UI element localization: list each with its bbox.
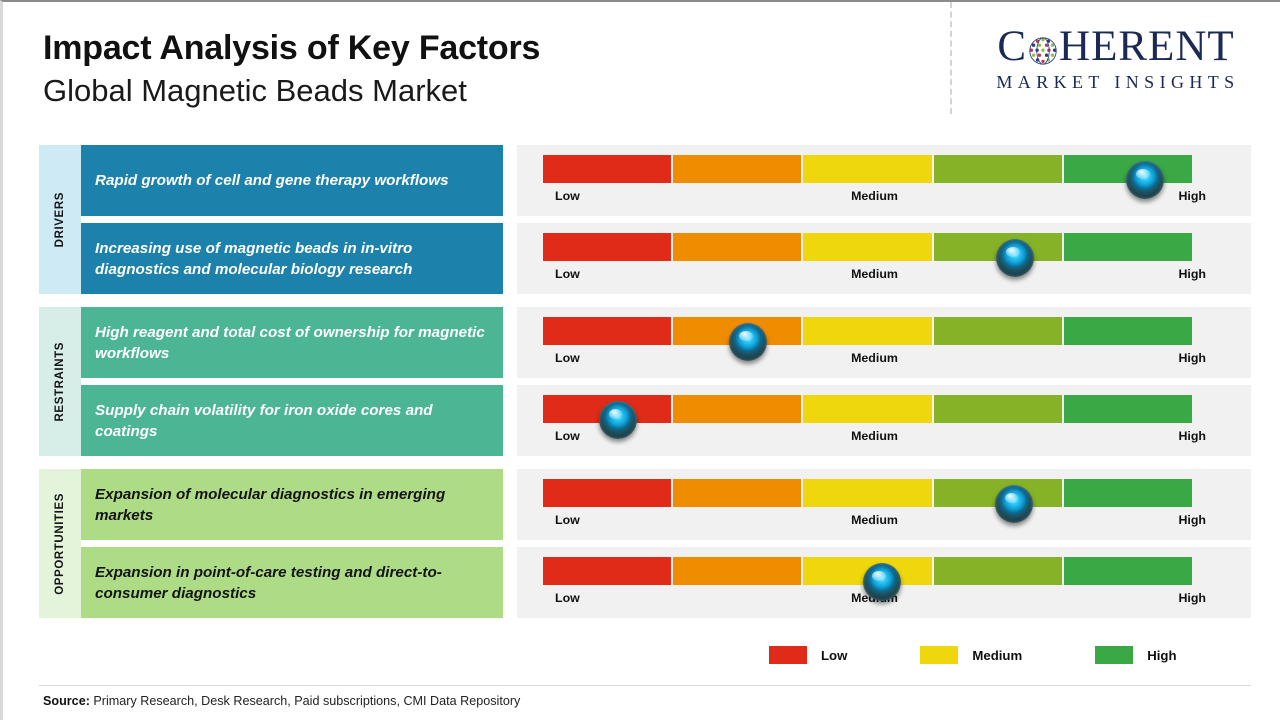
gauge-tick-low: Low [555,189,580,203]
gauge-tick-row: LowMediumHigh [543,267,1206,287]
gauge-segment-2 [673,479,801,507]
gauge-tick-high: High [1178,591,1206,605]
factor-row: High reagent and total cost of ownership… [81,307,1251,378]
gauge-tick-medium: Medium [851,513,898,527]
gauge-segment-5 [1064,557,1192,585]
gauge-tick-medium: Medium [851,351,898,365]
gauge-scale [543,233,1194,261]
factor-label: Expansion of molecular diagnostics in em… [81,469,503,540]
category-tab-label: OPPORTUNITIES [54,493,66,595]
gauge-segment-2 [673,233,801,261]
gauge-segment-3 [803,155,931,183]
factor-row: Rapid growth of cell and gene therapy wo… [81,145,1251,216]
gauge-segment-1 [543,317,671,345]
gauge-segment-5 [1064,395,1192,423]
category-rows: High reagent and total cost of ownership… [81,307,1251,456]
logo-wordmark: C [966,24,1266,70]
gauge-segment-2 [673,557,801,585]
category-block-drivers: DRIVERSRapid growth of cell and gene the… [39,145,1251,294]
gauge-tick-high: High [1178,267,1206,281]
gauge-segment-3 [803,395,931,423]
gauge-segment-1 [543,155,671,183]
gauge-segment-3 [803,317,931,345]
category-tab-label: DRIVERS [54,192,66,247]
logo-tagline: MARKET INSIGHTS [966,72,1266,93]
gauge-tick-high: High [1178,429,1206,443]
gauge-tick-low: Low [555,591,580,605]
gauge-segment-2 [673,155,801,183]
impact-marker[interactable] [599,401,637,439]
gauge-tick-row: LowMediumHigh [543,429,1206,449]
gauge-segment-3 [803,233,931,261]
category-tab-drivers: DRIVERS [39,145,81,294]
gauge-segment-4 [934,317,1062,345]
page-title: Impact Analysis of Key Factors [43,26,540,70]
factor-row: Expansion in point-of-care testing and d… [81,547,1251,618]
category-block-opportunities: OPPORTUNITIESExpansion of molecular diag… [39,469,1251,618]
dashed-divider [950,2,952,114]
gauge-tick-low: Low [555,429,580,443]
gauge-segment-3 [803,479,931,507]
impact-marker[interactable] [996,239,1034,277]
legend-label: Medium [972,648,1022,663]
footer-divider [39,685,1251,686]
factor-row: Increasing use of magnetic beads in in-v… [81,223,1251,294]
gauge-segment-5 [1064,233,1192,261]
impact-marker[interactable] [995,485,1033,523]
gauge-tick-medium: Medium [851,429,898,443]
gauge-tick-high: High [1178,189,1206,203]
gauge-scale [543,557,1194,585]
gauge-tick-low: Low [555,513,580,527]
impact-gauge: LowMediumHigh [517,469,1251,540]
legend-swatch [769,646,807,664]
source-footer: Source: Primary Research, Desk Research,… [43,694,520,708]
factor-row: Expansion of molecular diagnostics in em… [81,469,1251,540]
gauge-tick-row: LowMediumHigh [543,513,1206,533]
source-text: Primary Research, Desk Research, Paid su… [90,694,520,708]
infographic-page: Impact Analysis of Key Factors Global Ma… [0,0,1280,720]
impact-marker[interactable] [1126,161,1164,199]
legend-item-high: High [1095,646,1176,664]
page-subtitle: Global Magnetic Beads Market [43,70,540,112]
gauge-tick-medium: Medium [851,189,898,203]
gauge-scale [543,317,1194,345]
gauge-segment-5 [1064,317,1192,345]
logo-letters-herent: HERENT [1059,24,1235,70]
category-rows: Rapid growth of cell and gene therapy wo… [81,145,1251,294]
legend-swatch [1095,646,1133,664]
category-tab-restraints: RESTRAINTS [39,307,81,456]
category-rows: Expansion of molecular diagnostics in em… [81,469,1251,618]
factor-label: Increasing use of magnetic beads in in-v… [81,223,503,294]
category-block-restraints: RESTRAINTSHigh reagent and total cost of… [39,307,1251,456]
factor-label: Rapid growth of cell and gene therapy wo… [81,145,503,216]
factor-label: High reagent and total cost of ownership… [81,307,503,378]
impact-gauge: LowMediumHigh [517,385,1251,456]
factors-grid: DRIVERSRapid growth of cell and gene the… [39,145,1251,631]
gauge-segment-4 [934,395,1062,423]
gauge-segment-5 [1064,479,1192,507]
gauge-scale [543,155,1194,183]
legend-label: Low [821,648,847,663]
impact-marker[interactable] [863,563,901,601]
gauge-tick-low: Low [555,267,580,281]
impact-gauge: LowMediumHigh [517,145,1251,216]
logo-letter-c: C [997,24,1027,70]
factor-row: Supply chain volatility for iron oxide c… [81,385,1251,456]
gauge-segment-1 [543,557,671,585]
gauge-scale [543,479,1194,507]
gauge-scale [543,395,1194,423]
gauge-segment-4 [934,557,1062,585]
gauge-segment-4 [934,155,1062,183]
gauge-tick-high: High [1178,351,1206,365]
brand-logo: C [966,24,1266,93]
legend-item-medium: Medium [920,646,1022,664]
legend-swatch [920,646,958,664]
gauge-segment-2 [673,395,801,423]
impact-gauge: LowMediumHigh [517,223,1251,294]
gauge-tick-high: High [1178,513,1206,527]
category-tab-opportunities: OPPORTUNITIES [39,469,81,618]
legend-label: High [1147,648,1176,663]
source-label: Source: [43,694,90,708]
category-tab-label: RESTRAINTS [54,342,66,421]
globe-dots-icon [1028,30,1058,60]
page-header: Impact Analysis of Key Factors Global Ma… [43,26,540,112]
factor-label: Supply chain volatility for iron oxide c… [81,385,503,456]
gauge-tick-row: LowMediumHigh [543,351,1206,371]
impact-legend: LowMediumHigh [769,646,1177,664]
gauge-tick-row: LowMediumHigh [543,189,1206,209]
legend-item-low: Low [769,646,847,664]
impact-gauge: LowMediumHigh [517,547,1251,618]
factor-label: Expansion in point-of-care testing and d… [81,547,503,618]
gauge-tick-medium: Medium [851,267,898,281]
gauge-segment-1 [543,479,671,507]
gauge-tick-low: Low [555,351,580,365]
impact-gauge: LowMediumHigh [517,307,1251,378]
impact-marker[interactable] [729,323,767,361]
gauge-segment-1 [543,233,671,261]
